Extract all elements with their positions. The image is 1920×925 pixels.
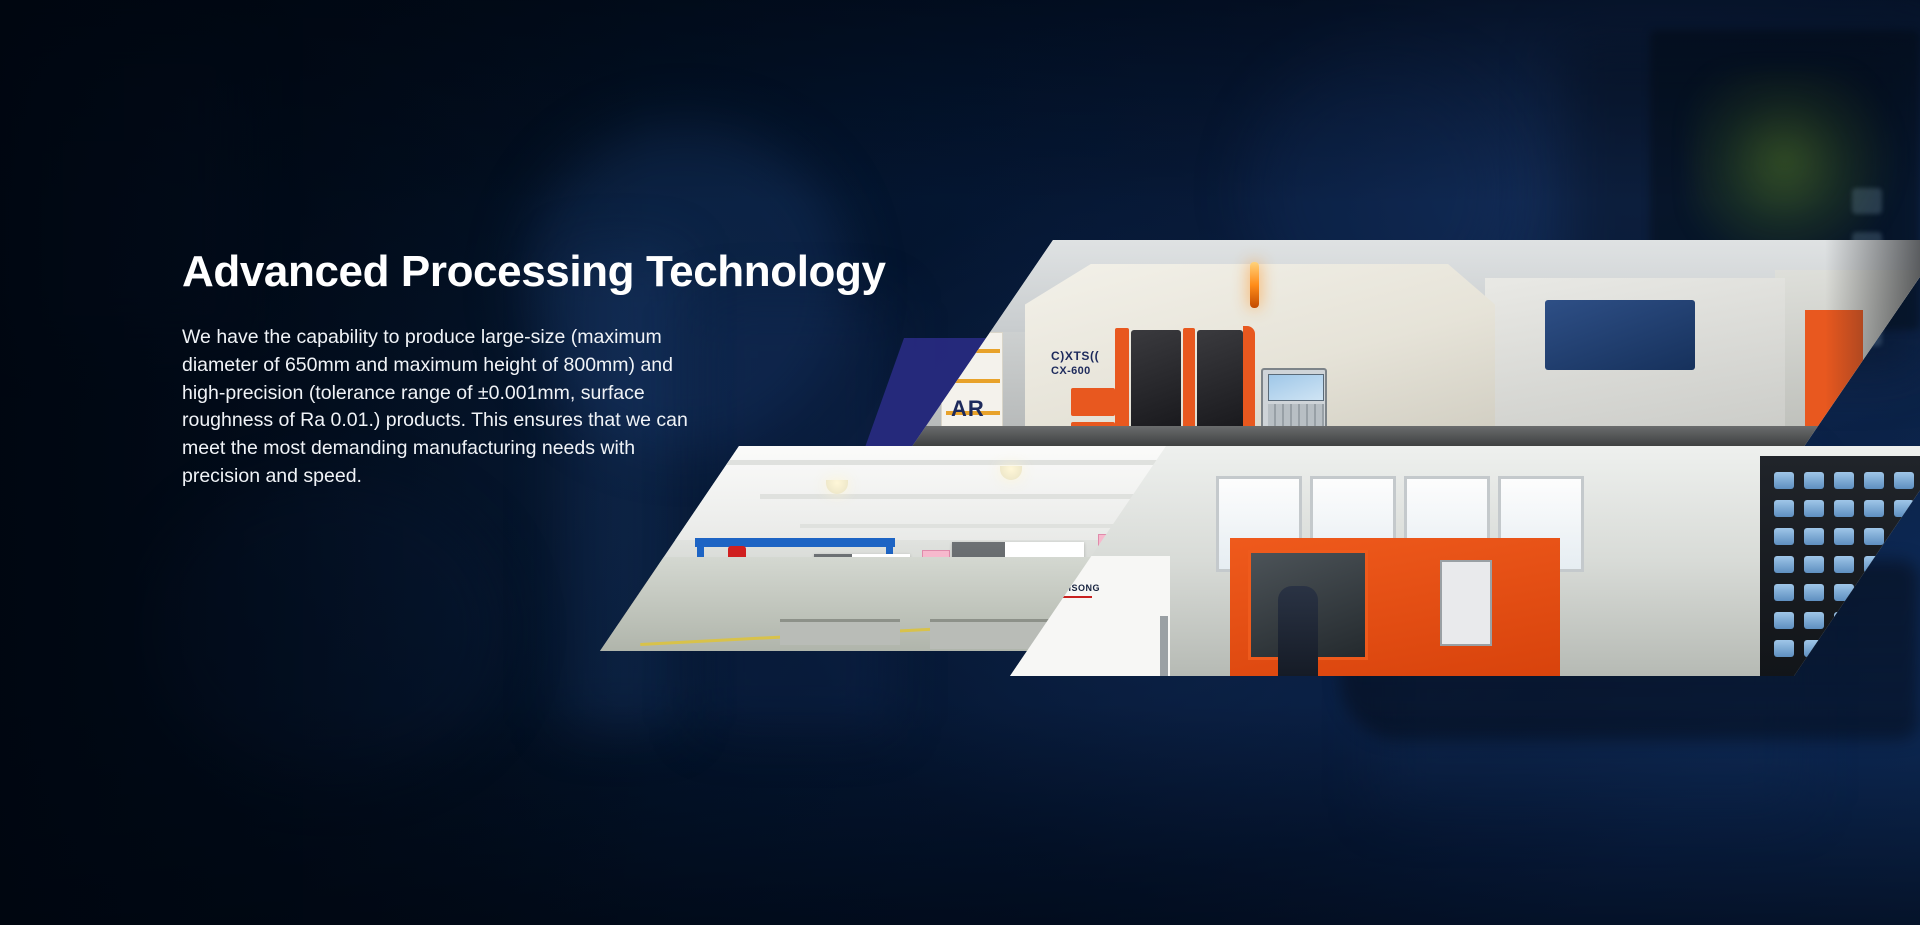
- cnc-model-number: CX-600: [1051, 364, 1099, 379]
- photo-injection-molding: CHEN HSONG: [1010, 446, 1920, 676]
- cnc-door-frame: [1115, 328, 1129, 438]
- text-content-block: Advanced Processing Technology We have t…: [182, 248, 722, 491]
- cnc-signal-lamp: [1250, 262, 1259, 308]
- cnc-door-window: [1131, 330, 1181, 436]
- cnc-door-window: [1197, 330, 1243, 436]
- injection-control-screen: [1440, 560, 1492, 646]
- cnc-control-panel: [1261, 368, 1327, 432]
- cnc-keypad: [1268, 404, 1324, 428]
- cnc-door-frame: [1183, 328, 1195, 438]
- cnc-machine-mid-unit: [1545, 300, 1695, 370]
- workshop-crane-beam: [695, 538, 895, 547]
- cnc-floor: [845, 426, 1920, 448]
- description-paragraph: We have the capability to produce large-…: [182, 324, 710, 490]
- cnc-brand-name: C)XTS((: [1051, 348, 1099, 364]
- injection-operator: [1278, 586, 1318, 676]
- cnc-side-label: AR: [951, 396, 985, 422]
- workshop-bench: [780, 619, 900, 645]
- cnc-machine-branding: C)XTS(( CX-600: [1051, 348, 1099, 379]
- page-title: Advanced Processing Technology: [182, 248, 722, 296]
- cnc-tray: [1071, 388, 1115, 416]
- cnc-screen: [1268, 374, 1324, 401]
- cnc-door-frame: [1243, 326, 1255, 438]
- advanced-processing-banner: Advanced Processing Technology We have t…: [0, 0, 1920, 925]
- injection-rail: [1160, 616, 1168, 676]
